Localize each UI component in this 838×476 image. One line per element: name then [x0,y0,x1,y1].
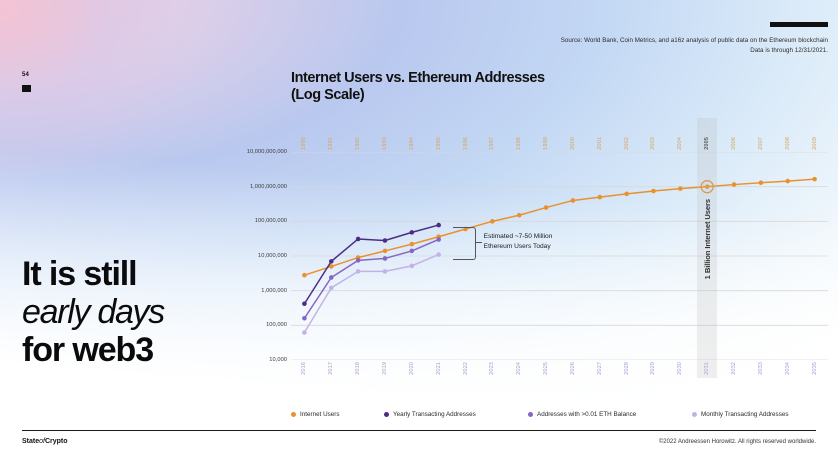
series-point [436,223,441,228]
series-line [304,255,438,333]
x-axis-bottom-tick: 2021 [436,362,442,375]
x-axis-top-tick: 2001 [597,137,603,150]
chart-legend: Internet UsersYearly Transacting Address… [291,411,831,425]
footer-rule [22,430,816,431]
headline: It is still early days for web3 [22,255,232,369]
x-axis-top-tick: 1996 [463,137,469,150]
legend-swatch-icon [384,412,389,417]
x-axis-top-tick: 1995 [436,137,442,150]
series-point [302,301,307,306]
series-point [410,264,415,269]
y-axis-tick-label: 1,000,000,000 [250,184,287,190]
x-axis-bottom-tick: 2033 [758,362,764,375]
x-axis-top-tick: 2000 [570,137,576,150]
series-point [356,269,361,274]
footer-brand-crypto: Crypto [45,438,68,445]
legend-item[interactable]: Internet Users [291,411,340,418]
x-axis-bottom-tick: 2017 [328,362,334,375]
x-axis-top-tick: 1998 [516,137,522,150]
series-point [302,273,307,278]
one-billion-label: 1 Billion Internet Users [703,199,712,279]
series-point [597,195,602,200]
x-axis-bottom-tick: 2026 [570,362,576,375]
series-point [410,230,415,235]
y-axis-labels: 10,000,000,0001,000,000,000100,000,00010… [215,152,287,360]
series-point [383,249,388,254]
slide-number: 54 [22,72,29,78]
footer-brand: StateofCrypto [22,438,68,445]
series-line [304,179,814,275]
series-point [329,275,334,280]
series-point [517,213,522,218]
series-point [410,242,415,247]
x-axis-bottom-tick: 2032 [731,362,737,375]
x-axis-bottom-tick: 2025 [543,362,549,375]
series-point [651,189,656,194]
series-point [436,237,441,242]
y-axis-tick-label: 10,000 [269,357,287,363]
series-point [329,259,334,264]
series-line [304,225,438,304]
series-point [785,179,790,184]
series-point [302,330,307,335]
callout-text: Estimated ~7-50 MillionEthereum Users To… [484,232,553,251]
x-axis-top-tick: 1992 [355,137,361,150]
legend-swatch-icon [528,412,533,417]
x-axis-bottom-tick: 2019 [382,362,388,375]
source-line-2: Data is through 12/31/2021. [408,46,828,56]
footer-brand-state: State [22,438,39,445]
headline-line-2: early days [22,293,232,331]
x-axis-bottom-tick: 2018 [355,362,361,375]
y-axis-tick-label: 100,000,000 [255,218,287,224]
series-point [356,237,361,242]
x-axis-bottom-tick: 2020 [409,362,415,375]
series-point [436,252,441,257]
series-point [383,256,388,261]
x-axis-top-tick: 2002 [624,137,630,150]
series-point [812,177,817,182]
x-axis-top-tick: 2003 [650,137,656,150]
legend-item[interactable]: Monthly Transacting Addresses [692,411,789,418]
x-axis-top-tick: 2006 [731,137,737,150]
y-axis-tick-label: 100,000 [266,322,287,328]
series-point [544,205,549,210]
top-rule [770,22,828,27]
x-axis-top-tick: 1999 [543,137,549,150]
callout-bracket [453,227,476,260]
callout-leader-line [475,242,482,243]
chart-plot-area [291,152,828,360]
x-axis-bottom-tick: 2035 [812,362,818,375]
series-point [356,258,361,263]
slide-square-marker [22,85,31,92]
x-axis-top-tick: 2004 [677,137,683,150]
y-axis-tick-label: 10,000,000 [258,253,287,259]
x-axis-bottom-tick: 2029 [650,362,656,375]
headline-line-1: It is still [22,255,232,293]
x-axis-top: 1990199119921993199419951996199719981999… [291,122,828,150]
headline-line-3: for web3 [22,331,232,369]
x-axis-top-tick: 1990 [301,137,307,150]
series-point [383,269,388,274]
x-axis-bottom-tick: 2023 [489,362,495,375]
callout-text-line-1: Estimated ~7-50 Million [484,232,553,242]
series-point [302,316,307,321]
series-point [329,286,334,291]
chart-title-main: Internet Users vs. Ethereum Addresses [291,70,545,87]
legend-swatch-icon [692,412,697,417]
source-note: Source: World Bank, Coin Metrics, and a1… [408,36,828,55]
legend-swatch-icon [291,412,296,417]
y-axis-tick-label: 10,000,000,000 [247,149,287,155]
series-line [304,239,438,318]
footer-copyright: ©2022 Andreessen Horowitz. All rights re… [659,439,816,445]
x-axis-top-tick: 1993 [382,137,388,150]
x-axis-bottom-tick: 2016 [301,362,307,375]
legend-label: Monthly Transacting Addresses [701,411,789,418]
legend-label: Yearly Transacting Addresses [393,411,476,418]
series-point [571,198,576,203]
legend-label: Internet Users [300,411,340,418]
source-line-1: Source: World Bank, Coin Metrics, and a1… [408,36,828,46]
x-axis-top-tick: 1991 [328,137,334,150]
x-axis-top-tick: 2007 [758,137,764,150]
x-axis-top-tick: 2009 [812,137,818,150]
y-axis-tick-label: 1,000,000 [261,288,287,294]
series-point [624,192,629,197]
x-axis-bottom-tick: 2028 [624,362,630,375]
chart-title-sub: (Log Scale) [291,87,545,104]
series-point [732,182,737,187]
slide-canvas: Source: World Bank, Coin Metrics, and a1… [0,0,838,476]
series-point [490,219,495,224]
series-point [383,238,388,243]
x-axis-top-tick: 1994 [409,137,415,150]
series-point [410,249,415,254]
legend-item[interactable]: Yearly Transacting Addresses [384,411,476,418]
chart-svg [291,152,828,360]
x-axis-bottom: 2016201720182019202020212022202320242025… [291,362,828,392]
legend-item[interactable]: Addresses with >0.01 ETH Balance [528,411,636,418]
chart-title: Internet Users vs. Ethereum Addresses (L… [291,70,545,104]
x-axis-top-tick: 1997 [489,137,495,150]
x-axis-bottom-tick: 2022 [463,362,469,375]
x-axis-bottom-tick: 2024 [516,362,522,375]
x-axis-bottom-tick: 2027 [597,362,603,375]
legend-label: Addresses with >0.01 ETH Balance [537,411,636,418]
x-axis-bottom-tick: 2034 [785,362,791,375]
series-point [759,180,764,185]
x-axis-bottom-tick: 2030 [677,362,683,375]
x-axis-top-tick: 2008 [785,137,791,150]
series-point [678,186,683,191]
callout-text-line-2: Ethereum Users Today [484,242,553,252]
